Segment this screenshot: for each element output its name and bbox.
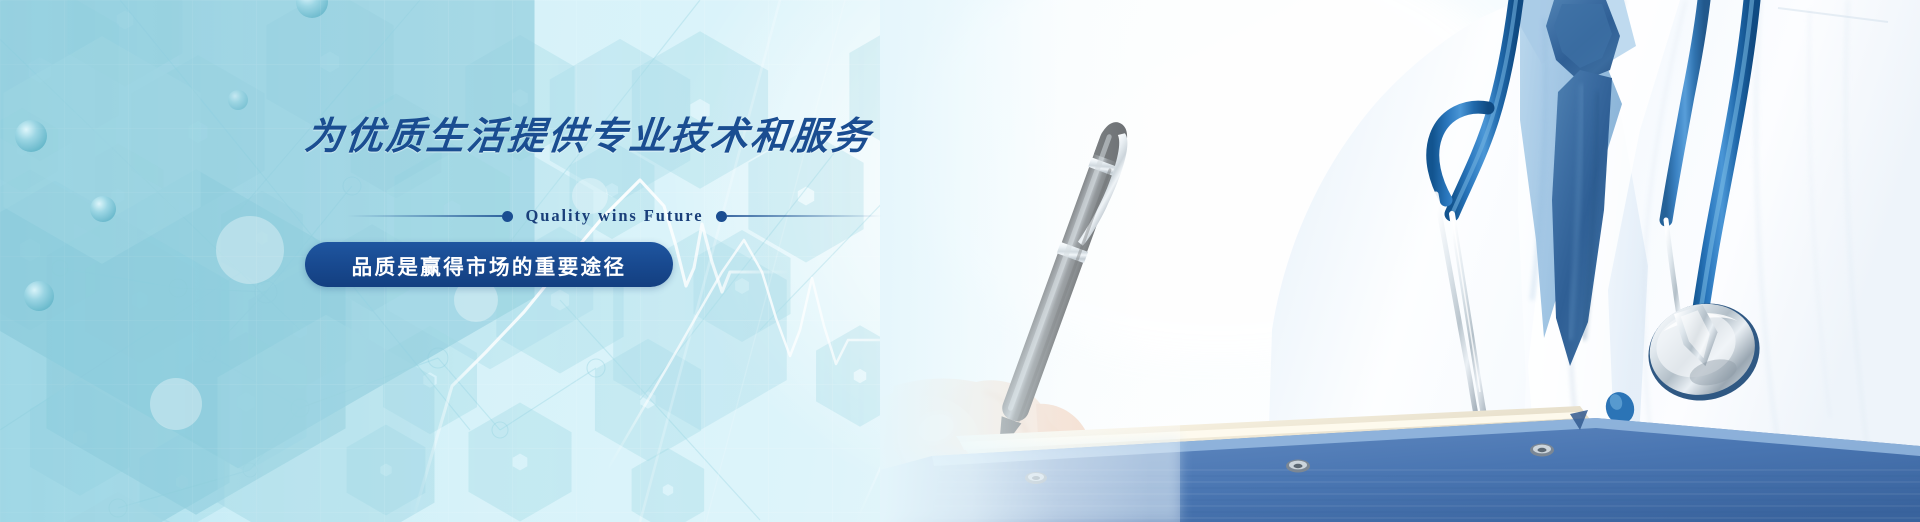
tagline-rule-right [727, 215, 882, 217]
page-title: 为优质生活提供专业技术和服务 [303, 118, 1027, 156]
tagline-row: Quality wins Future [347, 206, 882, 226]
doctor-photo [880, 0, 1920, 522]
tagline-rule-left [347, 215, 502, 217]
medical-hero-banner: 为优质生活提供专业技术和服务 Quality wins Future 品质是赢得… [0, 0, 1920, 522]
banner-content: 为优质生活提供专业技术和服务 Quality wins Future 品质是赢得… [305, 118, 1025, 287]
slogan-pill-button[interactable]: 品质是赢得市场的重要途径 [305, 242, 673, 287]
tagline-text: Quality wins Future [513, 206, 717, 226]
slogan-pill-label: 品质是赢得市场的重要途径 [352, 250, 627, 280]
tagline-dot-left-icon [502, 211, 513, 222]
tagline-dot-right-icon [716, 211, 727, 222]
